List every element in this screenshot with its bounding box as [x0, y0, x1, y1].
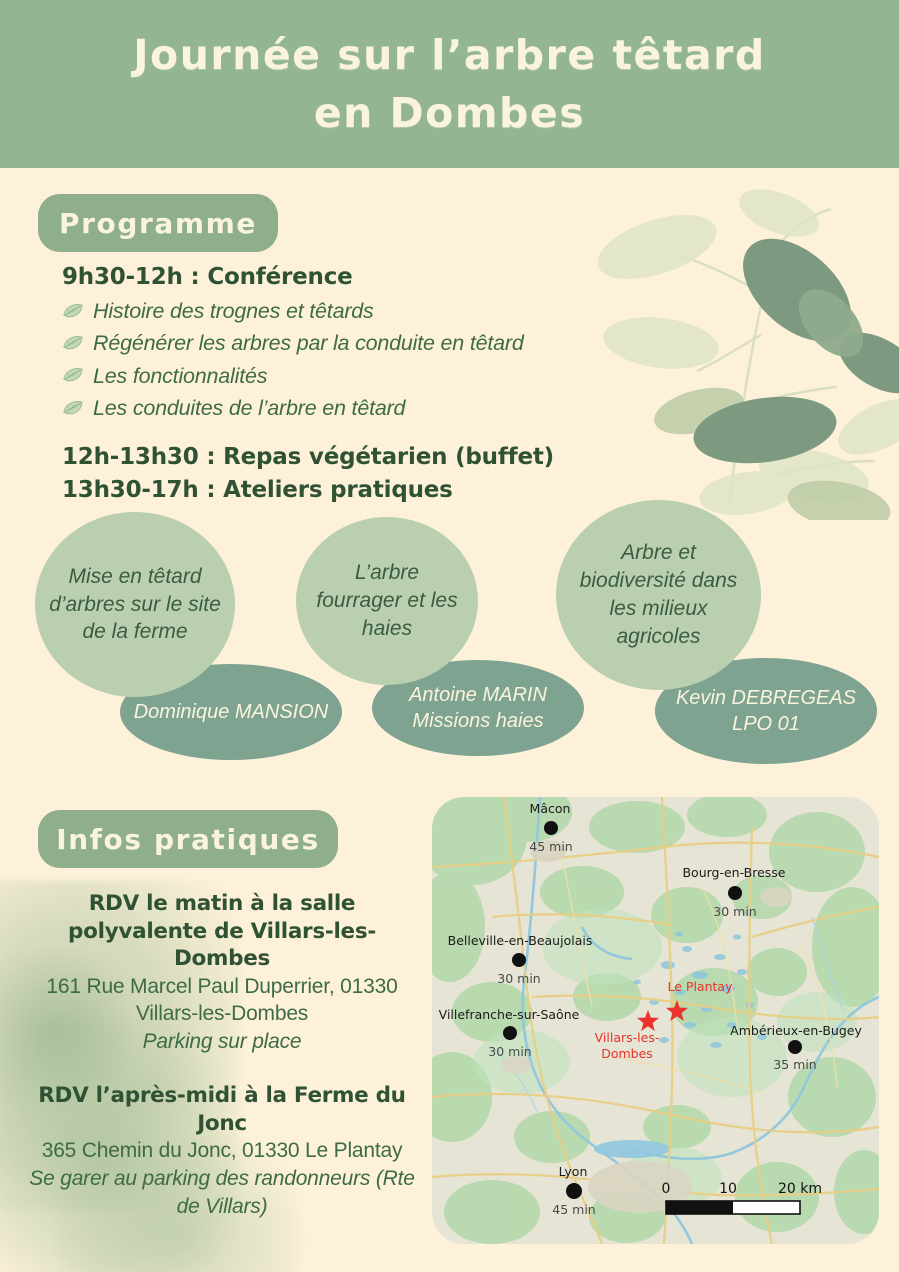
- map-scale-max: 20 km: [778, 1181, 822, 1197]
- info-title: RDV l’après-midi à la Ferme du Jonc: [22, 1082, 422, 1137]
- map-marker-belleville-en-beaujolais: [512, 953, 526, 967]
- poster-root: Journée sur l’arbre têtard en Dombes: [0, 0, 899, 1272]
- list-item: Les conduites de l’arbre en têtard: [62, 392, 662, 424]
- map-time-villefranche-sur-saone: 30 min: [488, 1044, 531, 1059]
- conference-heading: 9h30-12h : Conférence: [62, 264, 662, 291]
- map-scale-min: 0: [662, 1181, 671, 1197]
- speaker-name: Antoine MARIN Missions haies: [409, 682, 547, 735]
- map-label-villars-les-dombes-line1: Villars-les-: [595, 1030, 660, 1045]
- title-line-1: Journée sur l’arbre têtard: [133, 31, 765, 79]
- info-block-afternoon: RDV l’après-midi à la Ferme du Jonc 365 …: [22, 1082, 422, 1221]
- workshop-bubble-2: L’arbre fourrager et les haies: [296, 517, 478, 685]
- map-label-bourg-en-bresse: Bourg-en-Bresse: [682, 865, 785, 880]
- map-label-amberieux-en-bugey: Ambérieux-en-Bugey: [730, 1023, 862, 1038]
- map-time-amberieux-en-bugey: 35 min: [773, 1057, 816, 1072]
- list-item-label: Les fonctionnalités: [93, 360, 267, 392]
- map-marker-macon: [544, 821, 558, 835]
- map-marker-bourg-en-bresse: [728, 886, 742, 900]
- map-scale-mid: 10: [719, 1181, 737, 1197]
- page-title: Journée sur l’arbre têtard en Dombes: [133, 26, 765, 142]
- badge-label: Programme: [59, 207, 257, 240]
- programme-times: 12h-13h30 : Repas végétarien (buffet) 13…: [62, 441, 662, 506]
- infos-pratiques-section: RDV le matin à la salle polyvalente de V…: [22, 890, 422, 1247]
- leaf-icon: [62, 366, 84, 385]
- info-address: 365 Chemin du Jonc, 01330 Le Plantay: [22, 1137, 422, 1165]
- list-item-label: Les conduites de l’arbre en têtard: [93, 392, 405, 424]
- map-label-macon: Mâcon: [530, 801, 571, 816]
- location-map[interactable]: Mâcon 45 min Bourg-en-Bresse 30 min Bell…: [432, 797, 879, 1244]
- title-line-2: en Dombes: [314, 89, 585, 137]
- leaf-icon: [62, 302, 84, 321]
- map-label-le-plantay: Le Plantay: [668, 979, 734, 994]
- speaker-name: Dominique MANSION: [134, 699, 329, 725]
- map-time-lyon: 45 min: [552, 1202, 595, 1217]
- speaker-name: Kevin DEBREGEAS LPO 01: [676, 685, 856, 738]
- map-marker-villefranche-sur-saone: [503, 1026, 517, 1040]
- programme-section: 9h30-12h : Conférence Histoire des trogn…: [62, 264, 662, 506]
- info-title: RDV le matin à la salle polyvalente de V…: [22, 890, 422, 973]
- map-label-lyon: Lyon: [559, 1164, 588, 1179]
- map-time-belleville-en-beaujolais: 30 min: [497, 971, 540, 986]
- poster-header: Journée sur l’arbre têtard en Dombes: [0, 0, 899, 168]
- map-graphic: Mâcon 45 min Bourg-en-Bresse 30 min Bell…: [432, 797, 879, 1244]
- map-label-belleville-en-beaujolais: Belleville-en-Beaujolais: [448, 933, 593, 948]
- list-item-label: Histoire des trognes et têtards: [93, 295, 374, 327]
- map-time-bourg-en-bresse: 30 min: [713, 904, 756, 919]
- map-label-villars-les-dombes-line2: Dombes: [601, 1046, 653, 1061]
- leaf-icon: [62, 399, 84, 418]
- badge-label: Infos pratiques: [56, 823, 320, 856]
- workshop-title: Arbre et biodiversité dans les milieux a…: [570, 539, 747, 651]
- section-badge-programme: Programme: [38, 194, 278, 252]
- time-entry-workshops: 13h30-17h : Ateliers pratiques: [62, 474, 662, 507]
- map-marker-amberieux-en-bugey: [788, 1040, 802, 1054]
- time-entry-lunch: 12h-13h30 : Repas végétarien (buffet): [62, 441, 662, 474]
- info-note: Parking sur place: [22, 1028, 422, 1056]
- info-block-morning: RDV le matin à la salle polyvalente de V…: [22, 890, 422, 1056]
- list-item: Les fonctionnalités: [62, 360, 662, 392]
- workshop-title: Mise en têtard d’arbres sur le site de l…: [49, 563, 221, 647]
- section-badge-infos-pratiques: Infos pratiques: [38, 810, 338, 868]
- list-item: Régénérer les arbres par la conduite en …: [62, 327, 662, 359]
- list-item-label: Régénérer les arbres par la conduite en …: [93, 327, 524, 359]
- map-marker-lyon: [566, 1183, 582, 1199]
- map-scale-bar: [666, 1201, 800, 1214]
- map-label-villefranche-sur-saone: Villefranche-sur-Saône: [439, 1007, 580, 1022]
- leaf-icon: [62, 334, 84, 353]
- info-address: 161 Rue Marcel Paul Duperrier, 01330 Vil…: [22, 973, 422, 1029]
- conference-topic-list: Histoire des trognes et têtards Régénére…: [62, 295, 662, 424]
- list-item: Histoire des trognes et têtards: [62, 295, 662, 327]
- workshop-bubble-1: Mise en têtard d’arbres sur le site de l…: [35, 512, 235, 697]
- map-time-macon: 45 min: [529, 839, 572, 854]
- workshops-section: Dominique MANSION Antoine MARIN Missions…: [0, 500, 899, 780]
- workshop-title: L’arbre fourrager et les haies: [310, 559, 464, 643]
- info-note: Se garer au parking des randonneurs (Rte…: [22, 1165, 422, 1221]
- workshop-bubble-3: Arbre et biodiversité dans les milieux a…: [556, 500, 761, 690]
